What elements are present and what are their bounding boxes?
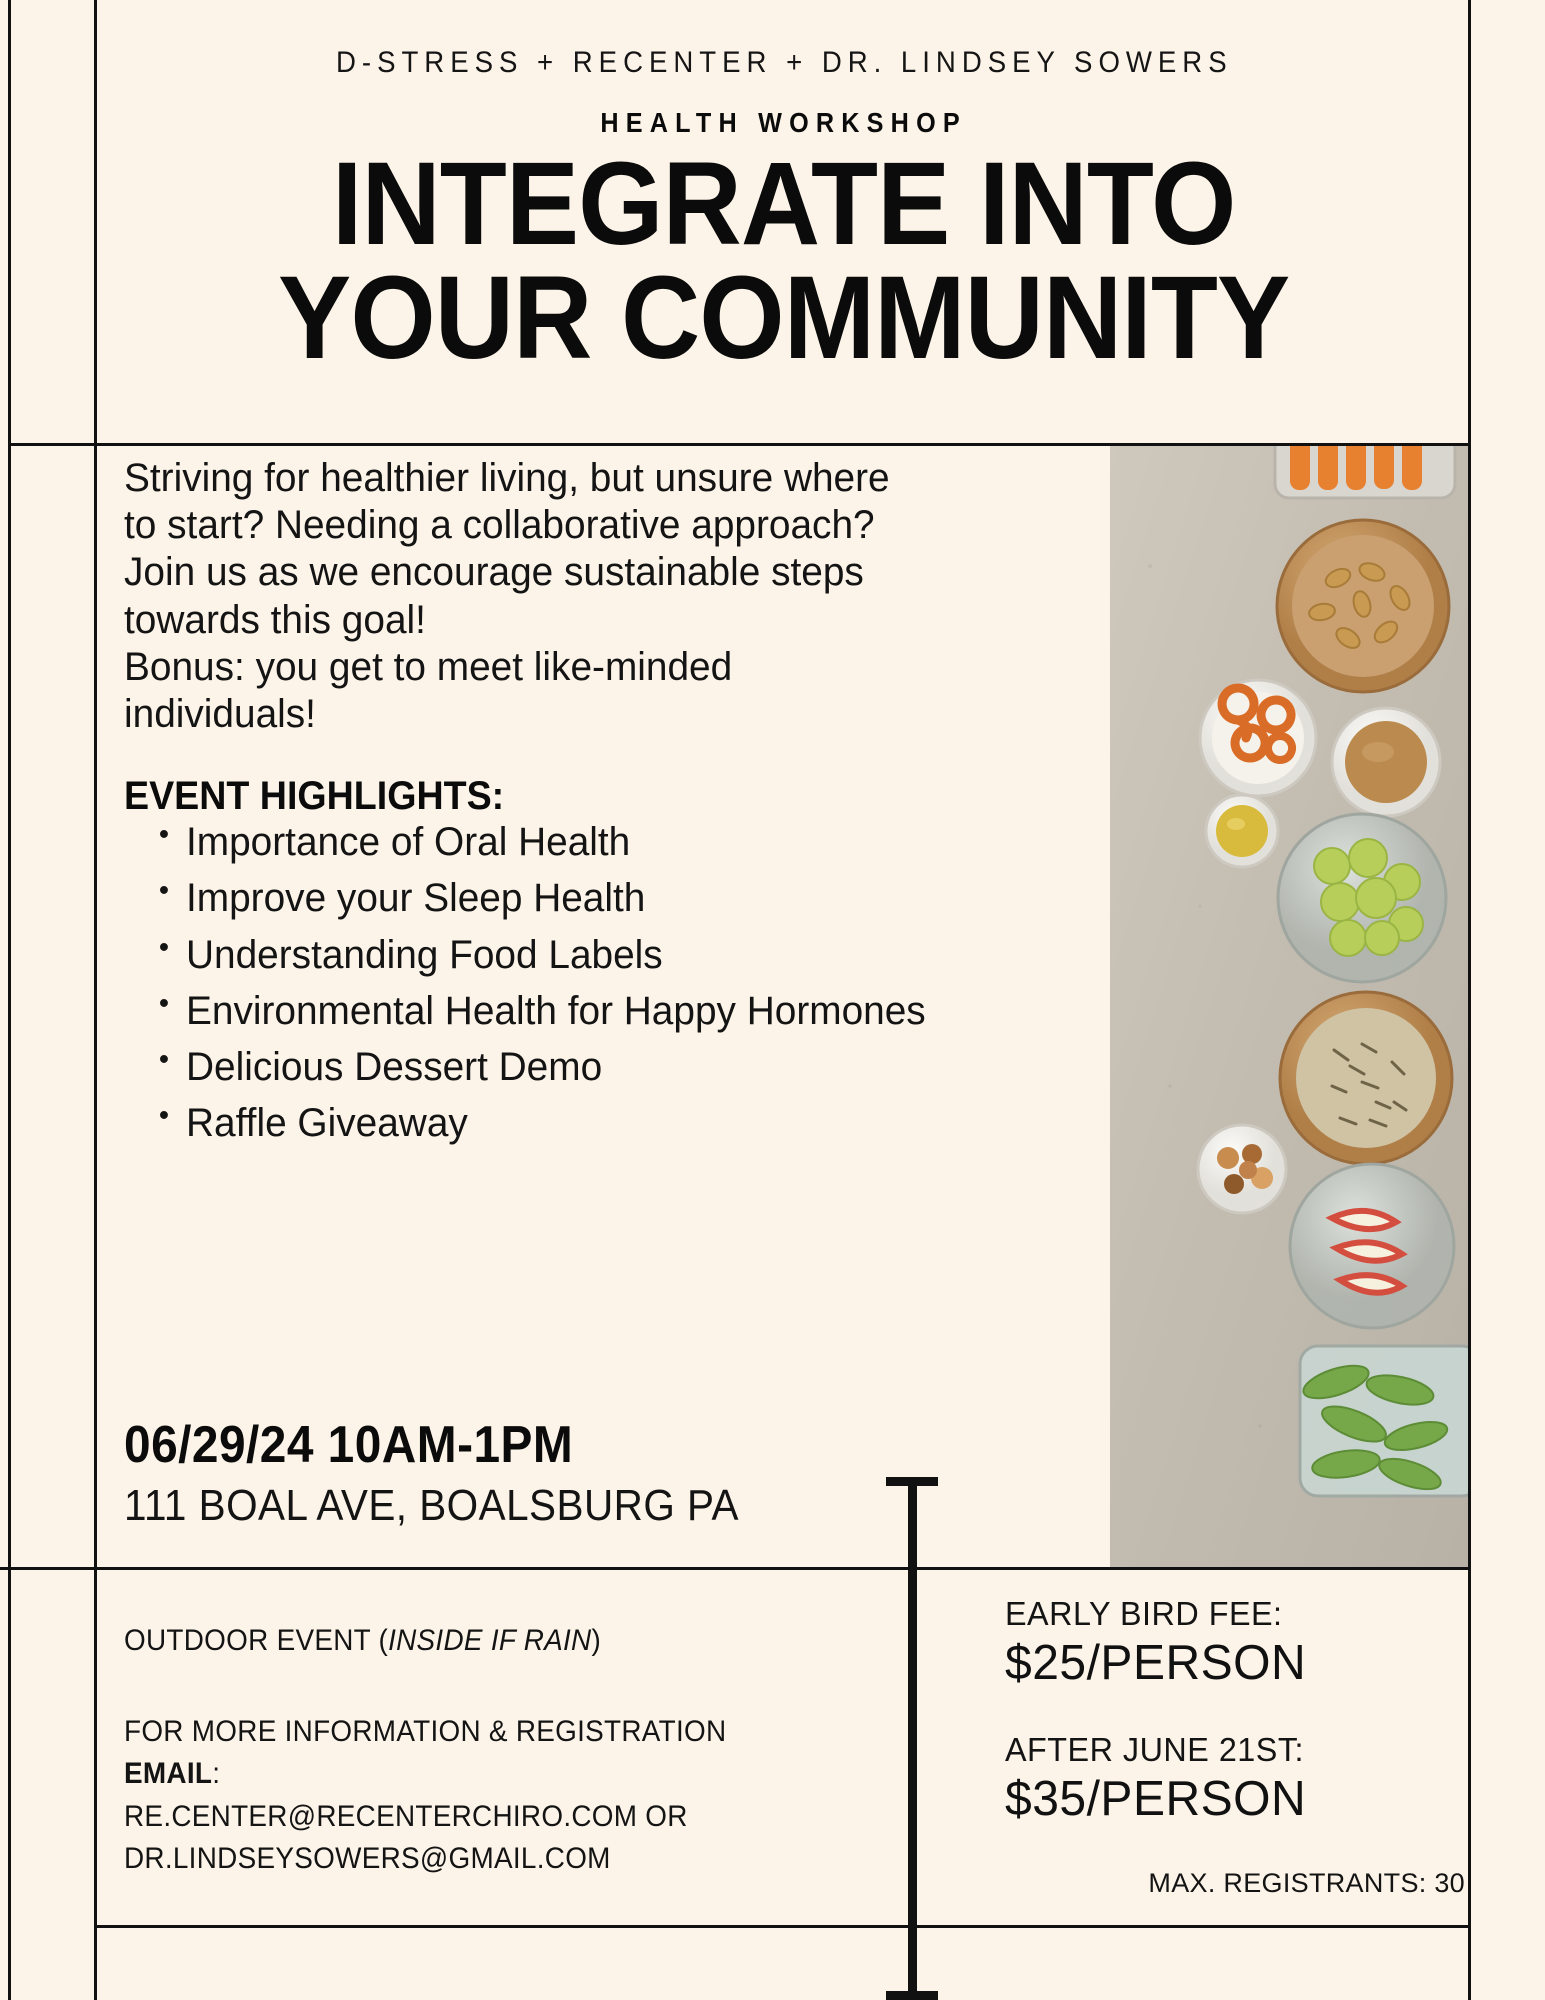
page-title-line-2: YOUR COMMUNITY (278, 261, 1289, 375)
header-block: D-STRESS + RECENTER + DR. LINDSEY SOWERS… (100, 0, 1468, 443)
body-block: Striving for healthier living, but unsur… (124, 455, 954, 1156)
venue-note: OUTDOOR EVENT (INSIDE IF RAIN) (124, 1620, 831, 1663)
intro-paragraphs: Striving for healthier living, but unsur… (124, 455, 929, 738)
late-fee-price: $35/PERSON (1005, 1771, 1456, 1827)
workshop-eyebrow: HEALTH WORKSHOP (601, 107, 968, 139)
flyer-page: D-STRESS + RECENTER + DR. LINDSEY SOWERS… (0, 0, 1545, 2000)
intro-paragraph-2: Join us as we encourage sustainable step… (124, 549, 929, 643)
page-title: INTEGRATE INTO YOUR COMMUNITY (278, 147, 1289, 376)
venue-note-suffix: ) (591, 1624, 601, 1657)
pricing-block: EARLY BIRD FEE: $25/PERSON AFTER JUNE 21… (1005, 1595, 1465, 1827)
list-item: Improve your Sleep Health (186, 875, 931, 922)
event-datetime: 06/29/24 10AM-1PM (124, 1415, 888, 1475)
brand-kicker: D-STRESS + RECENTER + DR. LINDSEY SOWERS (336, 46, 1233, 80)
email-label: EMAIL (124, 1757, 212, 1790)
frame-rule-outer-left (8, 0, 11, 2000)
email-address-2[interactable]: DR.LINDSEYSOWERS@GMAIL.COM (124, 1838, 831, 1881)
divider-bottom-cap (886, 1991, 938, 2000)
intro-paragraph-3: Bonus: you get to meet like-minded indiv… (124, 644, 929, 738)
registration-line: FOR MORE INFORMATION & REGISTRATION (124, 1711, 831, 1754)
food-flatlay-photo (1110, 446, 1468, 1567)
early-bird-label: EARLY BIRD FEE: (1005, 1595, 1456, 1633)
early-bird-price: $25/PERSON (1005, 1635, 1456, 1691)
footer-vertical-divider (908, 1477, 917, 2000)
intro-paragraph-1: Striving for healthier living, but unsur… (124, 455, 929, 549)
list-item: Raffle Giveaway (186, 1100, 931, 1147)
event-highlights-heading: EVENT HIGHLIGHTS: (124, 774, 904, 819)
late-fee-label: AFTER JUNE 21ST: (1005, 1731, 1456, 1769)
footer-spacer (124, 1663, 884, 1711)
list-item: Understanding Food Labels (186, 932, 931, 979)
frame-rule-above-footer (0, 1567, 1471, 1570)
email-address-1[interactable]: RE.CENTER@RECENTERCHIRO.COM OR (124, 1796, 831, 1839)
frame-rule-inner-left (94, 0, 97, 2000)
list-item: Environmental Health for Happy Hormones (186, 988, 931, 1035)
max-registrants-note: MAX. REGISTRANTS: 30 (1005, 1868, 1465, 1899)
event-datetime-location: 06/29/24 10AM-1PM 111 BOAL AVE, BOALSBUR… (124, 1415, 954, 1531)
event-address: 111 BOAL AVE, BOALSBURG PA (124, 1481, 888, 1531)
venue-note-italic: INSIDE IF RAIN (388, 1624, 591, 1657)
venue-note-prefix: OUTDOOR EVENT ( (124, 1624, 388, 1657)
frame-rule-right (1468, 0, 1471, 2000)
email-label-line: EMAIL: (124, 1753, 831, 1796)
list-item: Importance of Oral Health (186, 819, 931, 866)
event-highlights-list: Importance of Oral Health Improve your S… (124, 819, 954, 1147)
page-title-line-1: INTEGRATE INTO (332, 138, 1236, 270)
pricing-spacer (1005, 1691, 1465, 1731)
list-item: Delicious Dessert Demo (186, 1044, 931, 1091)
frame-rule-footer-bottom (94, 1925, 1471, 1928)
email-label-colon: : (212, 1757, 220, 1790)
footer-contact-block: OUTDOOR EVENT (INSIDE IF RAIN) FOR MORE … (124, 1620, 884, 1881)
